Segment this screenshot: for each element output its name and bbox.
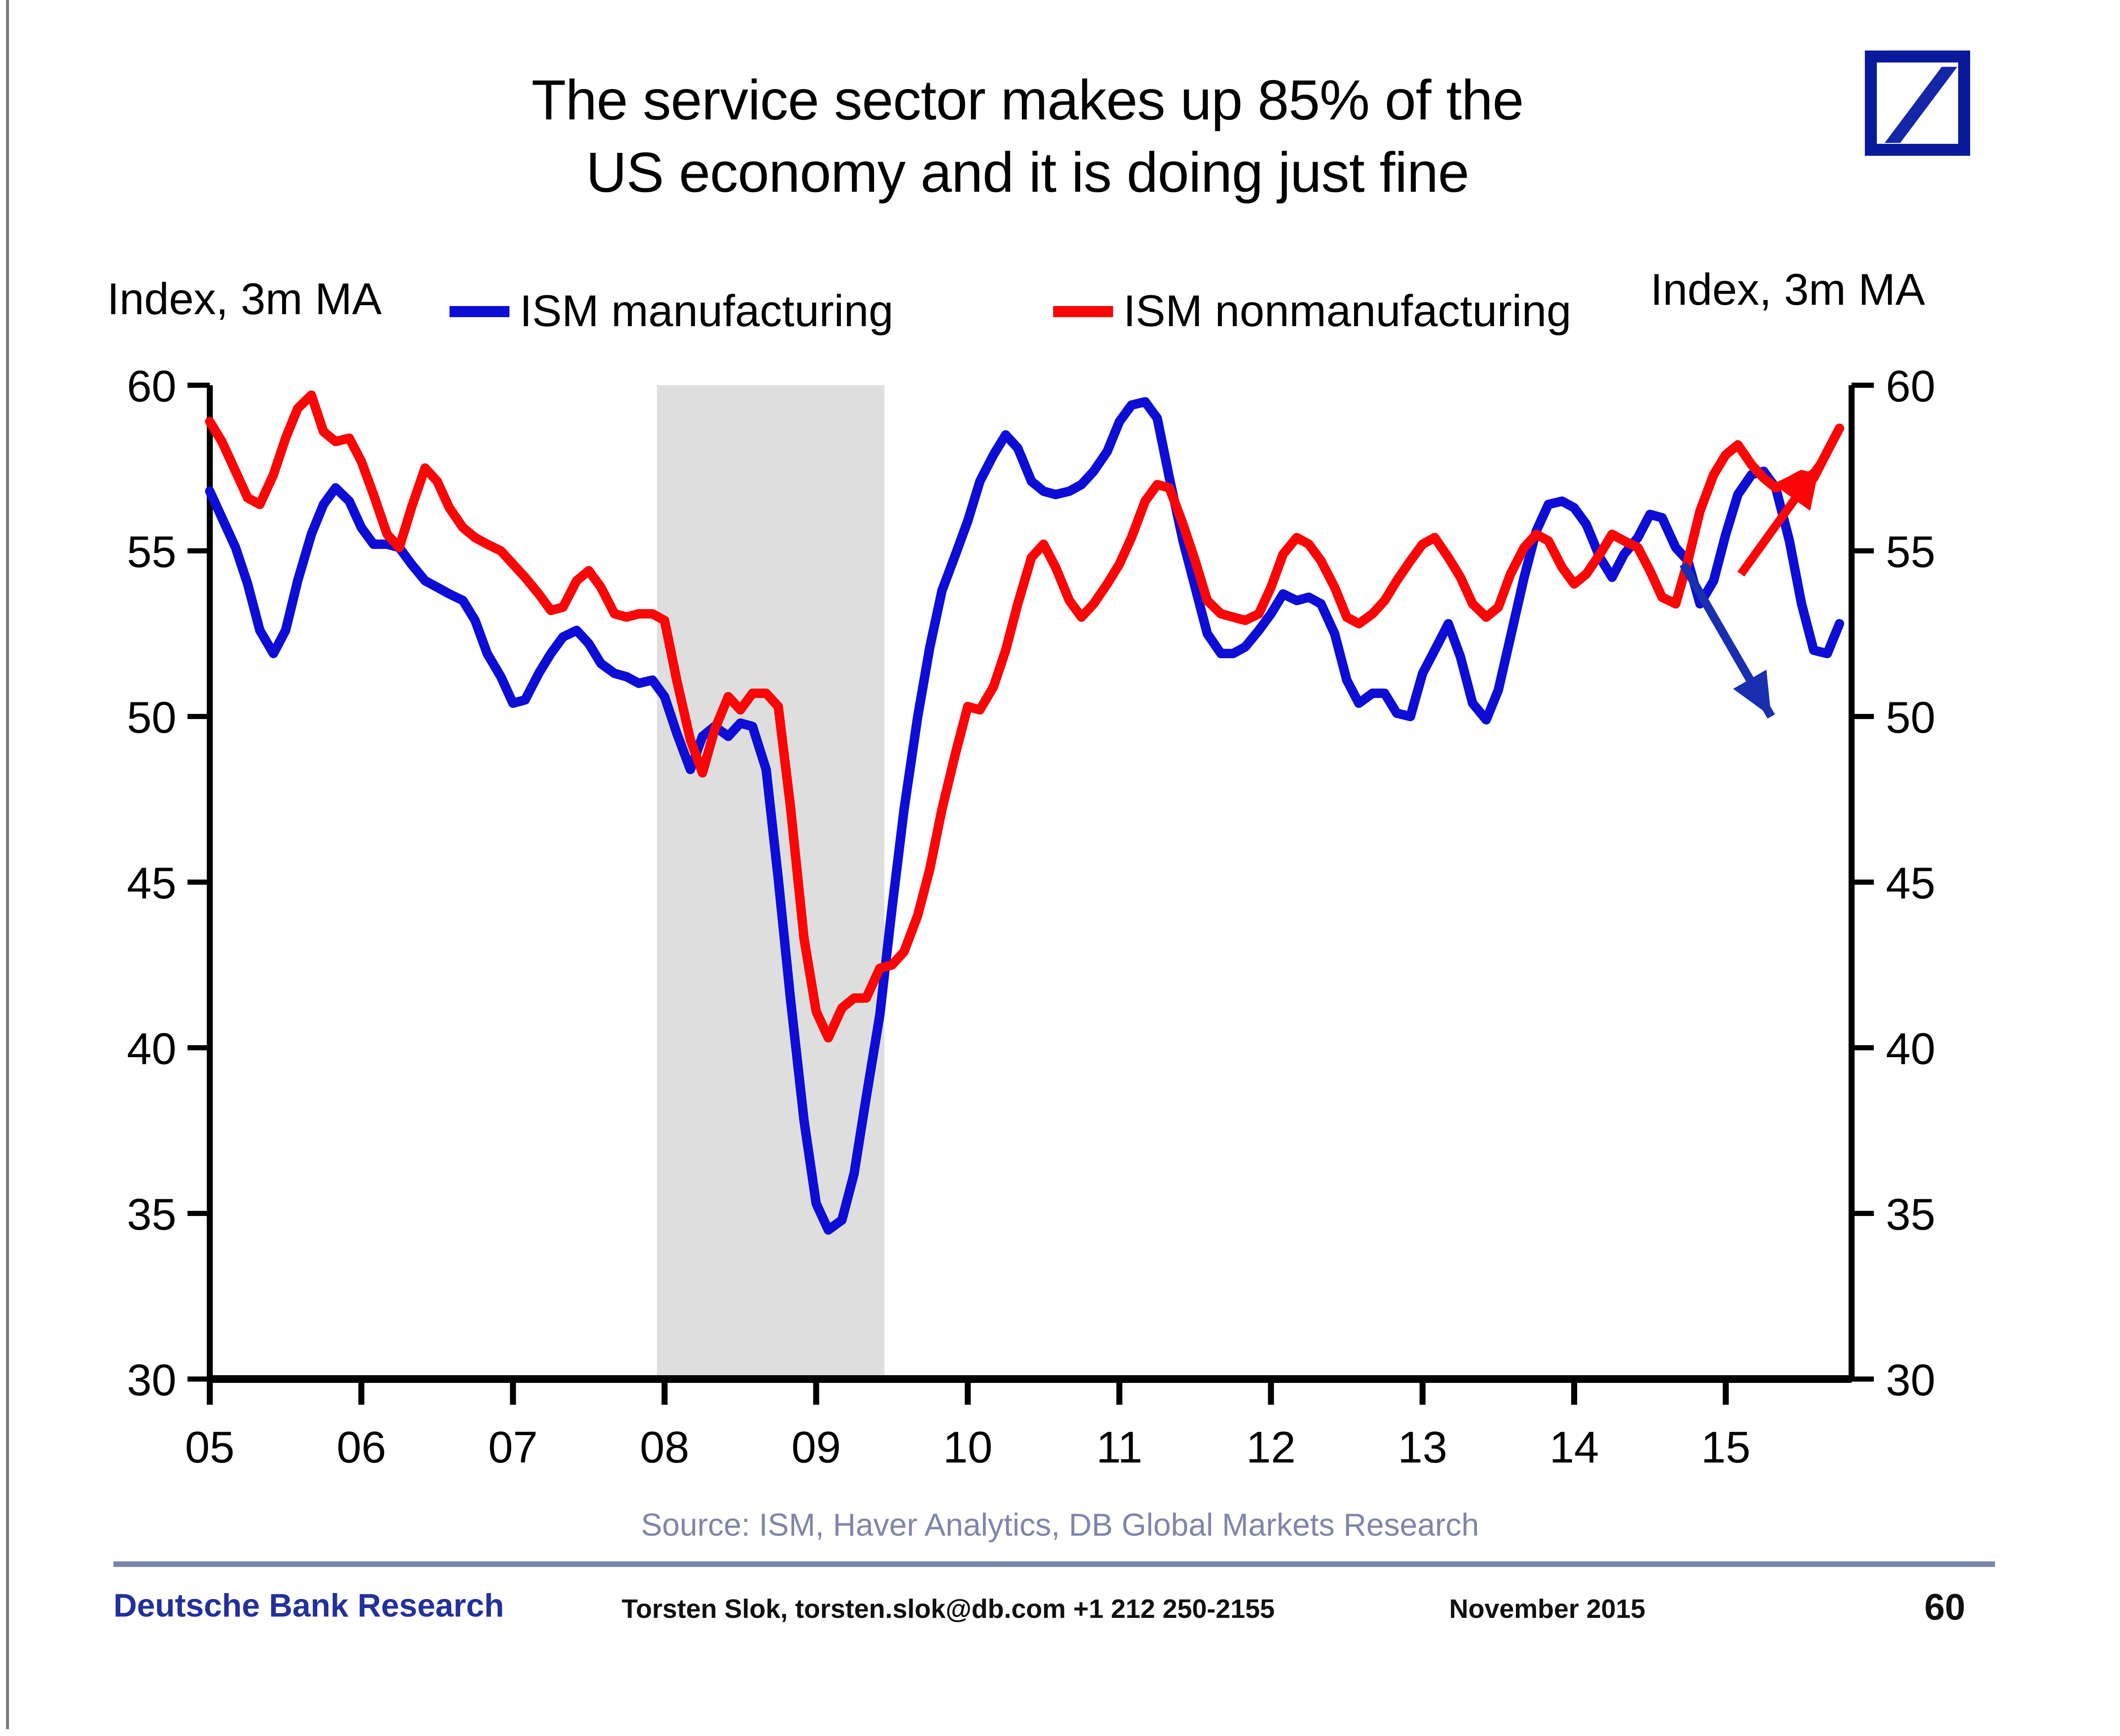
svg-text:15: 15	[1701, 1423, 1751, 1472]
svg-text:09: 09	[792, 1423, 841, 1472]
line-chart: 3030353540404545505055556060050607080910…	[0, 0, 2120, 1736]
svg-text:08: 08	[640, 1423, 689, 1472]
red-up-arrow	[1741, 465, 1820, 574]
footer-contact: Torsten Slok, torsten.slok@db.com +1 212…	[622, 1594, 1275, 1624]
slide-left-rule	[6, 0, 9, 1729]
svg-text:30: 30	[127, 1356, 176, 1405]
legend-item-nonmanufacturing[interactable]: ISM nonmanufacturing	[1053, 286, 1571, 337]
svg-text:40: 40	[127, 1024, 176, 1074]
svg-text:06: 06	[336, 1423, 386, 1472]
footer-date: November 2015	[1449, 1594, 1645, 1624]
svg-text:12: 12	[1246, 1423, 1296, 1472]
blue-down-arrow	[1683, 564, 1771, 716]
legend-label-manufacturing: ISM manufacturing	[520, 286, 893, 337]
svg-text:30: 30	[1886, 1356, 1935, 1405]
deutsche-bank-logo-icon	[1865, 51, 1970, 156]
slide-root: The service sector makes up 85% of the U…	[0, 0, 2120, 1736]
page-title: The service sector makes up 85% of the U…	[257, 64, 1798, 209]
svg-text:35: 35	[1886, 1190, 1935, 1240]
svg-text:60: 60	[127, 362, 176, 411]
logo-inner	[1877, 62, 1958, 144]
svg-text:10: 10	[943, 1423, 993, 1472]
series-line-ism-nonmanufacturing	[210, 395, 1840, 1038]
title-line-1: The service sector makes up 85% of the	[257, 64, 1798, 137]
title-line-2: US economy and it is doing just fine	[257, 137, 1798, 209]
svg-text:55: 55	[127, 527, 176, 577]
footer-brand: Deutsche Bank Research	[113, 1587, 504, 1624]
chart-source-note: Source: ISM, Haver Analytics, DB Global …	[0, 1507, 2120, 1543]
svg-text:05: 05	[185, 1423, 235, 1472]
right-axis-caption: Index, 3m MA	[1650, 265, 1925, 315]
svg-text:14: 14	[1549, 1423, 1599, 1472]
svg-text:35: 35	[127, 1190, 176, 1240]
red-up-arrow-head	[1779, 465, 1820, 511]
svg-text:07: 07	[488, 1423, 538, 1472]
footer-page-number: 60	[1924, 1586, 1965, 1629]
recession-band	[657, 385, 884, 1379]
legend-item-manufacturing[interactable]: ISM manufacturing	[450, 286, 893, 337]
svg-text:60: 60	[1886, 362, 1935, 411]
svg-text:45: 45	[127, 859, 176, 908]
svg-text:50: 50	[1886, 693, 1935, 743]
series-line-ism-manufacturing	[210, 402, 1840, 1230]
footer-divider	[113, 1561, 1995, 1567]
legend-swatch-nonmanufacturing	[1053, 306, 1113, 317]
svg-text:11: 11	[1096, 1423, 1143, 1472]
chart-plot-area: 3030353540404545505055556060050607080910…	[0, 0, 2120, 1736]
svg-text:40: 40	[1886, 1024, 1935, 1074]
svg-text:13: 13	[1398, 1423, 1447, 1472]
svg-text:55: 55	[1886, 527, 1935, 577]
blue-down-arrow-head	[1733, 670, 1771, 716]
logo-slash-icon	[1877, 62, 1958, 144]
chart-legend: ISM manufacturing ISM nonmanufacturing	[420, 286, 1661, 342]
legend-swatch-manufacturing	[450, 306, 509, 317]
left-axis-caption: Index, 3m MA	[107, 274, 382, 325]
svg-text:50: 50	[127, 693, 176, 743]
legend-label-nonmanufacturing: ISM nonmanufacturing	[1123, 286, 1571, 337]
svg-text:45: 45	[1886, 859, 1935, 908]
footer-row: Deutsche Bank Research Torsten Slok, tor…	[0, 1584, 2120, 1639]
